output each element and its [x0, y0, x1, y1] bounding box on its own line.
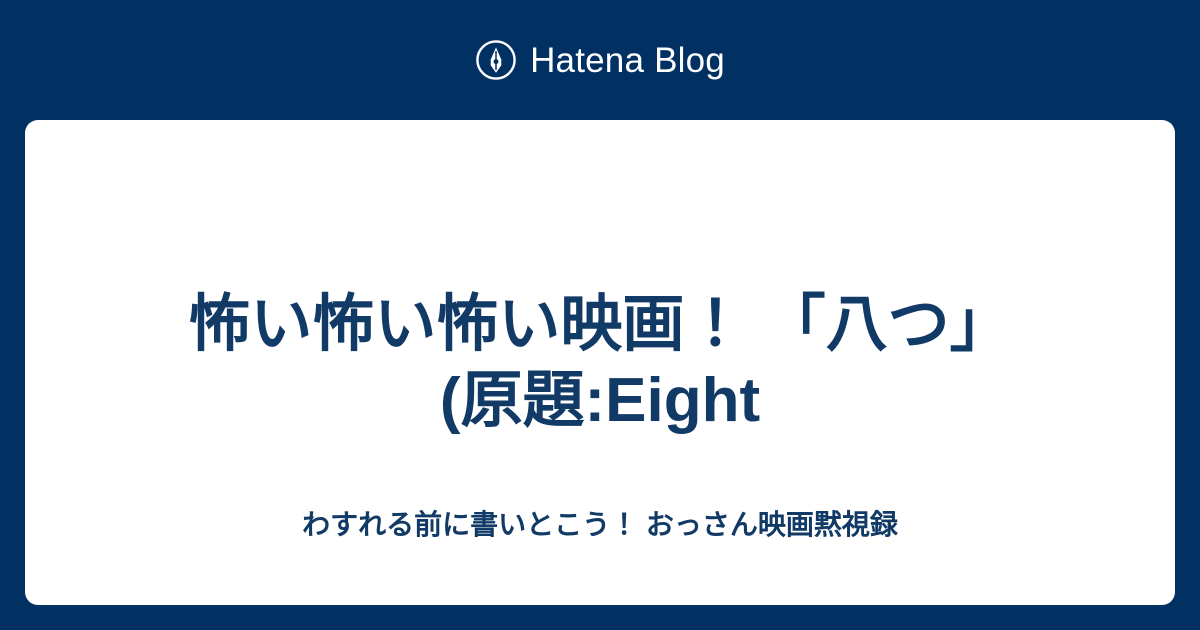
entry-card: 怖い怖い怖い映画！ 「八つ」 (原題:Eight わすれる前に書いとこう！ おっ… [25, 120, 1175, 605]
entry-title: 怖い怖い怖い映画！ 「八つ」 (原題:Eight [80, 287, 1120, 438]
blog-title: わすれる前に書いとこう！ おっさん映画黙視録 [80, 507, 1120, 543]
ogp-card-canvas: Hatena Blog 怖い怖い怖い映画！ 「八つ」 (原題:Eight わすれ… [0, 0, 1200, 630]
entry-title-line-1: 怖い怖い怖い映画！ 「八つ」 [188, 290, 1011, 359]
entry-title-line-2: (原題:Eight [440, 366, 760, 435]
hatena-blog-brand: Hatena Blog [0, 0, 1200, 120]
fountain-pen-nib-in-circle-icon [475, 39, 517, 81]
hatena-blog-brand-name: Hatena Blog [530, 43, 725, 78]
hatena-blog-logo [475, 39, 517, 81]
